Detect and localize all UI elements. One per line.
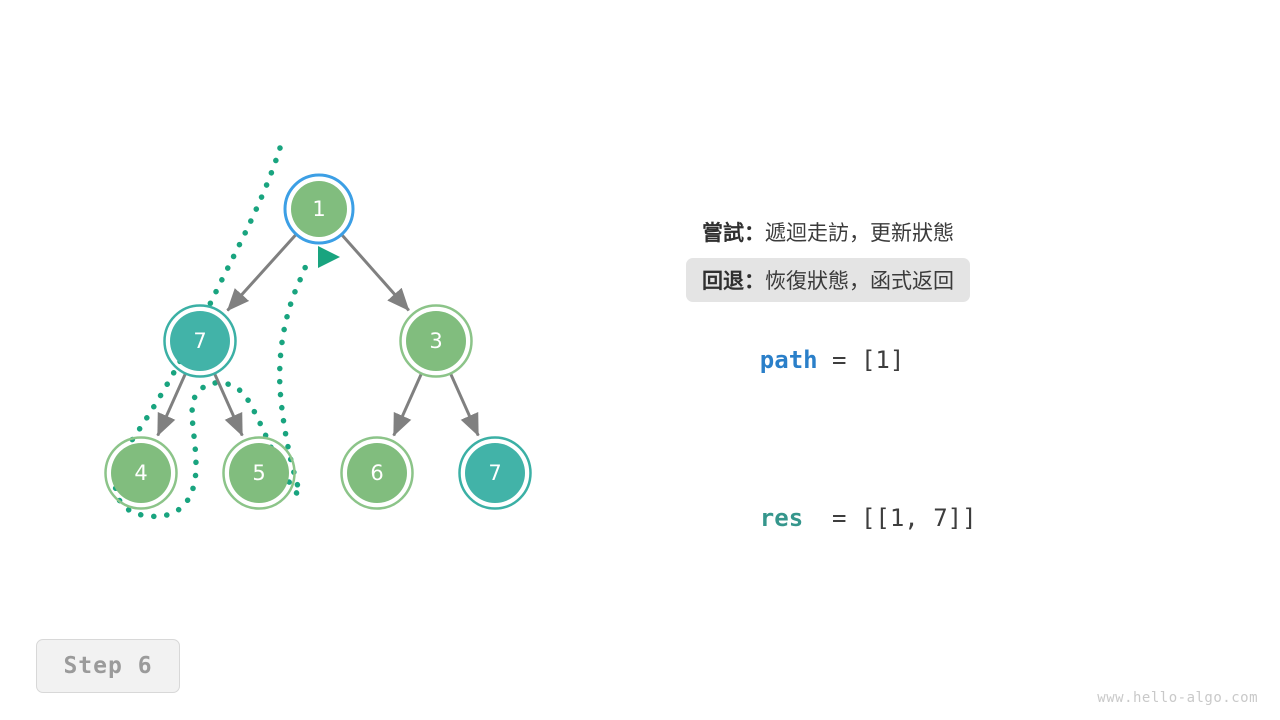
variable-res-line: res = [[1, 7]] [702,476,1246,560]
tree-node-1: 1 [285,175,353,243]
phase-row-try: 嘗試： 遞迴走訪，更新狀態 [686,210,970,254]
node-label: 7 [193,329,206,353]
node-label: 3 [429,329,442,353]
tree-edge [451,374,479,436]
variable-name-res: res [760,504,803,532]
phase-label-try: 嘗試： [702,217,765,247]
phase-text-try: 遞迴走訪，更新狀態 [765,217,954,247]
tree-node-7: 7 [165,306,236,377]
variable-path-line: path = [1] [702,318,1246,402]
tree-node-5: 5 [224,438,295,509]
tree-node-3: 3 [401,306,472,377]
step-badge: Step 6 [36,639,180,693]
phase-row-backtrack: 回退： 恢復狀態，函式返回 [686,258,970,302]
phase-label-backtrack: 回退： [702,265,765,295]
traversal-arrowhead-icon [318,246,340,268]
tree-edge [342,234,409,310]
variable-value-res: = [[1, 7]] [803,504,976,532]
info-panel: 嘗試： 遞迴走訪，更新狀態 回退： 恢復狀態，函式返回 path = [1] r… [686,210,1246,560]
node-label: 1 [312,197,325,221]
tree-node-4: 4 [106,438,177,509]
variable-name-path: path [760,346,818,374]
phase-text-backtrack: 恢復狀態，函式返回 [765,265,954,295]
node-label: 6 [370,461,383,485]
tree-diagram: 1734567 [0,0,660,720]
tree-node-6: 6 [342,438,413,509]
node-label: 7 [488,461,501,485]
tree-edge [394,374,422,436]
tree-node-7: 7 [460,438,531,509]
watermark: www.hello-algo.com [1097,690,1258,706]
variable-value-path: = [1] [818,346,905,374]
node-label: 5 [252,461,265,485]
tree-nodes: 1734567 [106,175,531,509]
step-badge-label: Step 6 [63,653,152,679]
tree-edge [158,374,186,436]
node-label: 4 [134,461,147,485]
